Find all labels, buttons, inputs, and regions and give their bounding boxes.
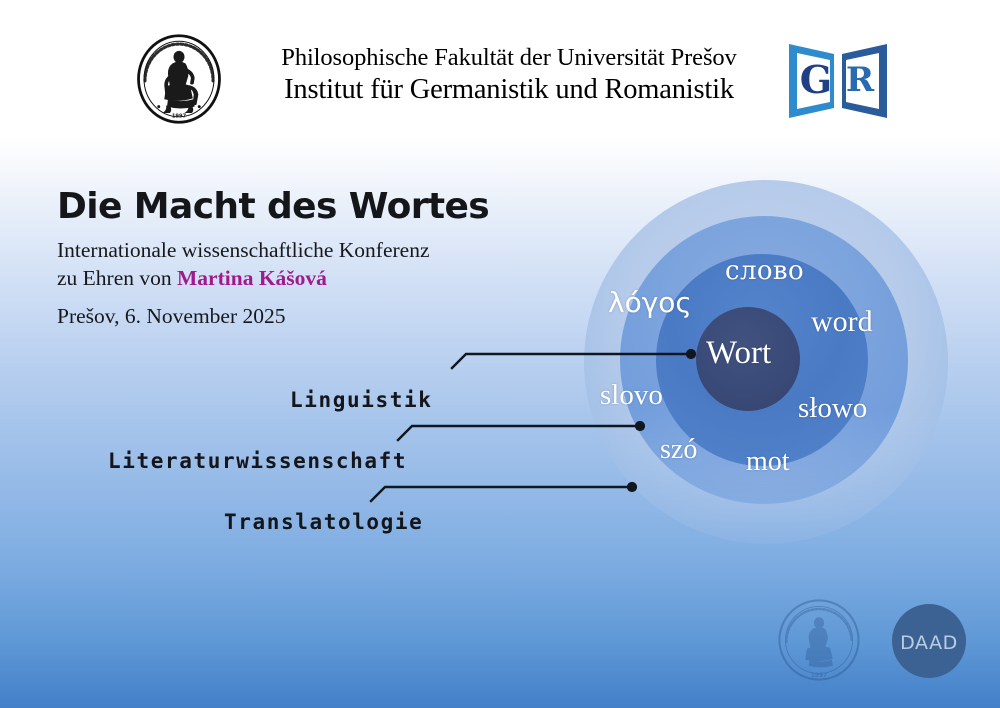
leader-dot-translatologie [627,482,637,492]
faculty-name: Philosophische Fakultät der Universität … [244,44,774,71]
leader-dot-linguistik [686,349,696,359]
university-seal-icon: 1997 [133,33,225,125]
leader-line-linguistik [452,354,690,368]
header-band: 1997 Philosophische Fakultät der Univers… [0,0,1000,138]
discipline-label-translatologie: Translatologie [224,510,423,534]
glr-letter-g: G [800,57,832,102]
discipline-label-literaturwissenschaft: Literaturwissenschaft [108,449,407,473]
leader-line-translatologie [371,487,631,501]
discipline-label-linguistik: Linguistik [290,388,432,412]
leader-line-literaturwissenschaft [398,426,639,440]
svg-text:1997: 1997 [172,114,187,120]
glr-logo-icon: G R [786,38,890,122]
institute-name: Institut für Germanistik und Romanistik [244,74,774,106]
institution-header: Philosophische Fakultät der Universität … [244,44,774,106]
conference-poster: слово λόγος word slovo słowo szó mot Wor… [0,0,1000,708]
glr-letter-r: R [846,60,875,100]
leader-dot-literaturwissenschaft [635,421,645,431]
